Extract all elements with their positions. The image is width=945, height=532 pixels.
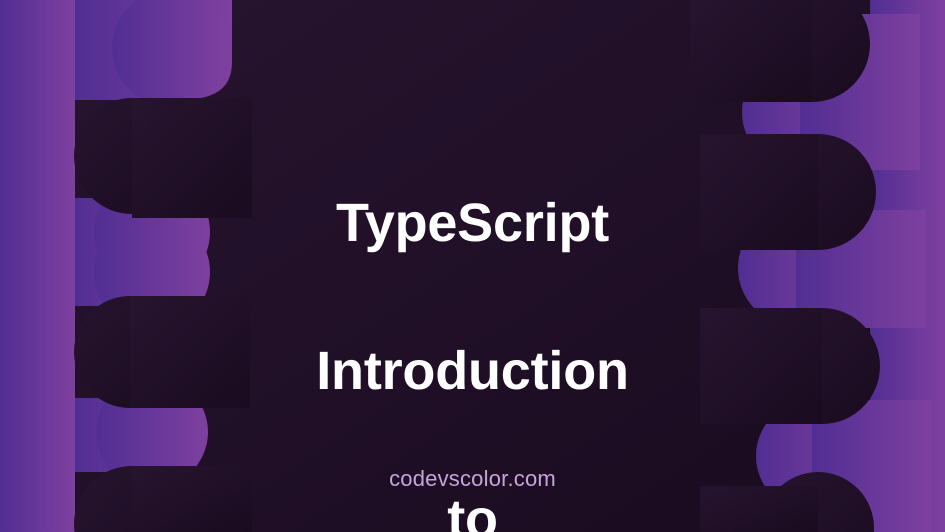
site-attribution: codevscolor.com xyxy=(0,466,945,492)
title-line-2: Introduction xyxy=(0,334,945,408)
title-line-1: TypeScript xyxy=(0,186,945,260)
poster-content: TypeScript Introduction to modules codev… xyxy=(0,0,945,532)
poster-canvas: TypeScript Introduction to modules codev… xyxy=(0,0,945,532)
